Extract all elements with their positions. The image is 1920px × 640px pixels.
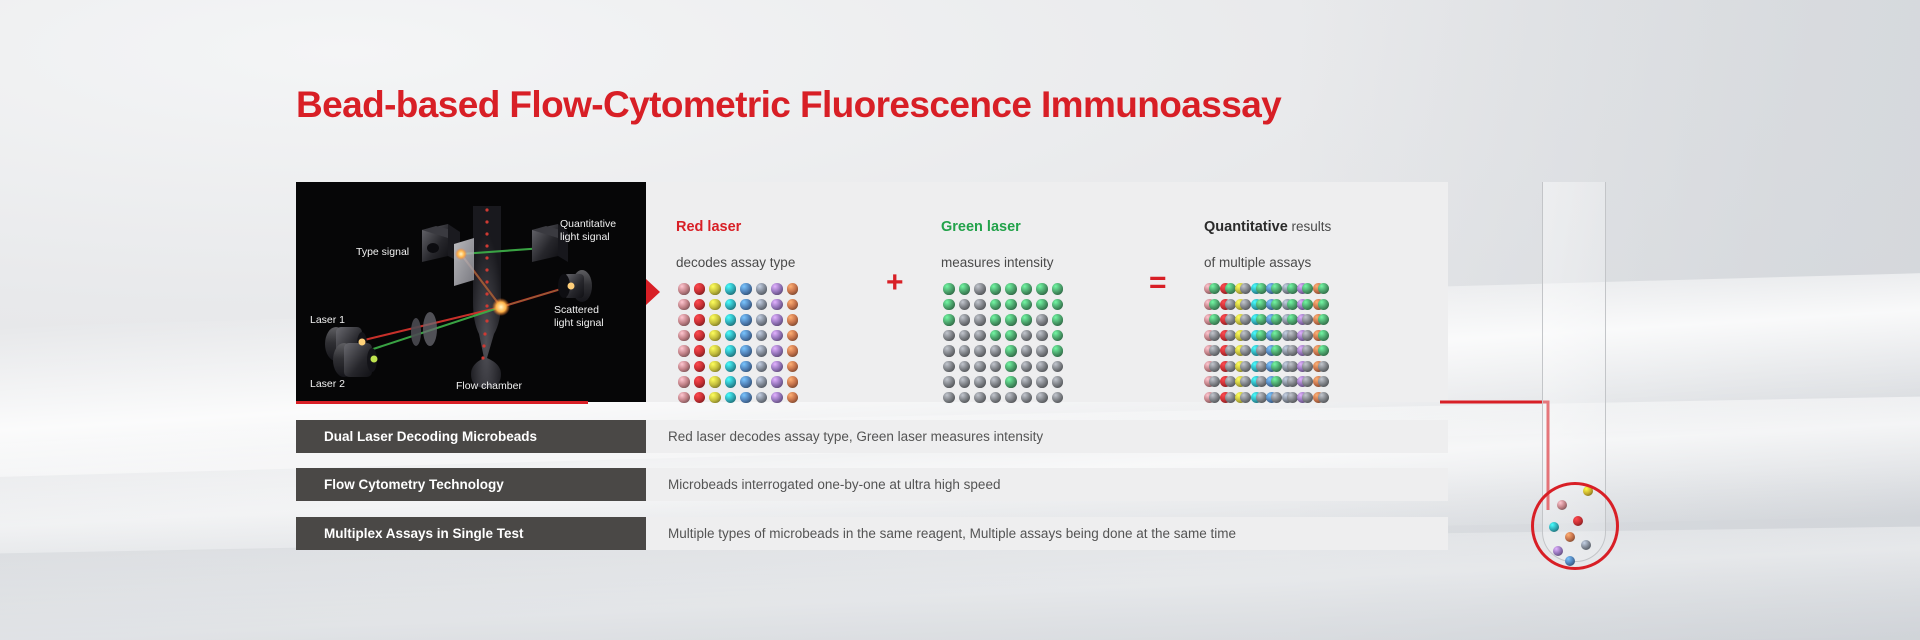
bead (754, 390, 770, 406)
bead (676, 281, 692, 297)
bead (738, 312, 754, 328)
bead-pair (1297, 312, 1313, 328)
label-type-signal: Type signal (356, 246, 409, 259)
bead (1050, 312, 1066, 328)
feature-tag: Multiplex Assays in Single Test (296, 517, 646, 550)
bead-pair (1235, 312, 1251, 328)
bead (785, 297, 801, 313)
bead (1050, 343, 1066, 359)
bead (1003, 281, 1019, 297)
feature-desc: Multiple types of microbeads in the same… (646, 517, 1448, 550)
bead (1050, 281, 1066, 297)
bead (1034, 343, 1050, 359)
bead-pair (1266, 374, 1282, 390)
bead (707, 328, 723, 344)
bead-pair (1297, 390, 1313, 406)
bead (676, 374, 692, 390)
bead (941, 312, 957, 328)
bead (957, 312, 973, 328)
page-title: Bead-based Flow-Cytometric Fluorescence … (296, 84, 1281, 126)
bead (785, 312, 801, 328)
bead-pair (1266, 297, 1282, 313)
bead (1050, 390, 1066, 406)
bead-pair (1313, 312, 1329, 328)
bead (692, 374, 708, 390)
bead (723, 281, 739, 297)
bead-pair (1204, 281, 1220, 297)
bead-pair (1220, 281, 1236, 297)
bead (754, 374, 770, 390)
bead (988, 328, 1004, 344)
bead-pair (1313, 343, 1329, 359)
bead (941, 374, 957, 390)
red-laser-sub: decodes assay type (676, 255, 795, 270)
green-laser-highlight: Green laser (941, 219, 1021, 235)
panel-baseline (296, 401, 588, 404)
label-quantitative-light-signal: Quantitative light signal (560, 218, 616, 243)
bead (754, 359, 770, 375)
bead (785, 343, 801, 359)
bead-pair (1266, 359, 1282, 375)
label-scattered-light-signal: Scattered light signal (554, 304, 604, 329)
bead (738, 328, 754, 344)
bead-pair (1282, 281, 1298, 297)
bead-pair (1204, 374, 1220, 390)
bead (1034, 297, 1050, 313)
bead-pair (1204, 312, 1220, 328)
bead-pair (1220, 343, 1236, 359)
label-laser-2: Laser 2 (310, 378, 345, 391)
bead (988, 390, 1004, 406)
bead-pair (1235, 328, 1251, 344)
bead (941, 359, 957, 375)
bead-pair (1235, 297, 1251, 313)
bead-pair (1266, 343, 1282, 359)
bead (738, 374, 754, 390)
results-sub: of multiple assays (1204, 255, 1311, 270)
bead (707, 374, 723, 390)
bead (972, 374, 988, 390)
bead (692, 328, 708, 344)
bead-pair (1220, 359, 1236, 375)
red-laser-block: Red laser decodes assay type (676, 200, 800, 405)
bead (1019, 297, 1035, 313)
bead (769, 359, 785, 375)
bead (957, 297, 973, 313)
bead (988, 281, 1004, 297)
feature-desc: Red laser decodes assay type, Green lase… (646, 420, 1448, 453)
bead (972, 343, 988, 359)
bead (1050, 374, 1066, 390)
bead (941, 281, 957, 297)
bead-pair (1204, 390, 1220, 406)
flow-arrow-icon (646, 279, 660, 305)
bead (738, 343, 754, 359)
bead (988, 343, 1004, 359)
bead (754, 343, 770, 359)
bead (1003, 328, 1019, 344)
bead (754, 281, 770, 297)
red-laser-highlight: Red laser (676, 219, 741, 235)
bead (1003, 390, 1019, 406)
bead-pair (1220, 374, 1236, 390)
bead (1019, 328, 1035, 344)
results-inline: results (1288, 219, 1332, 234)
bead (941, 297, 957, 313)
bead (1003, 374, 1019, 390)
bead (769, 281, 785, 297)
bead-pair (1282, 390, 1298, 406)
feature-tag: Flow Cytometry Technology (296, 468, 646, 501)
bead-pair (1266, 390, 1282, 406)
bead (769, 374, 785, 390)
bead (754, 297, 770, 313)
bead (723, 390, 739, 406)
bead-pair (1235, 281, 1251, 297)
bead-pair (1282, 312, 1298, 328)
feature-desc: Microbeads interrogated one-by-one at ul… (646, 468, 1448, 501)
bead (972, 359, 988, 375)
process-panel: Laser 1 Laser 2 Type signal Flow chamber… (296, 182, 1448, 402)
bead (769, 297, 785, 313)
bead (957, 328, 973, 344)
bead-pair (1251, 359, 1267, 375)
bead-pair (1235, 374, 1251, 390)
bead (988, 359, 1004, 375)
bead (723, 312, 739, 328)
bead (723, 297, 739, 313)
bead (769, 390, 785, 406)
bead-pair (1297, 281, 1313, 297)
bead-pair (1266, 281, 1282, 297)
bead (769, 343, 785, 359)
bead (707, 312, 723, 328)
bead-pair (1266, 312, 1282, 328)
bead (972, 297, 988, 313)
bead-pair (1235, 359, 1251, 375)
optics-diagram: Laser 1 Laser 2 Type signal Flow chamber… (296, 182, 646, 402)
label-flow-chamber: Flow chamber (456, 380, 522, 393)
bead (1019, 390, 1035, 406)
bead-pair (1266, 328, 1282, 344)
bead (738, 297, 754, 313)
bead (972, 281, 988, 297)
bead-pair (1220, 328, 1236, 344)
bead-pair (1313, 359, 1329, 375)
bead (957, 390, 973, 406)
bead (676, 328, 692, 344)
bead (957, 359, 973, 375)
bead (707, 297, 723, 313)
bead (723, 343, 739, 359)
operator-plus: + (886, 266, 904, 300)
bead-pair (1313, 390, 1329, 406)
bead (692, 297, 708, 313)
bead (738, 359, 754, 375)
bead (676, 312, 692, 328)
bead (707, 281, 723, 297)
bead (1003, 297, 1019, 313)
bead-pair (1220, 390, 1236, 406)
bead (1019, 359, 1035, 375)
bead (1034, 390, 1050, 406)
bead-pair (1297, 359, 1313, 375)
bead (676, 297, 692, 313)
bead (1034, 281, 1050, 297)
bead (1050, 297, 1066, 313)
bead (707, 359, 723, 375)
callout-circle (1531, 482, 1619, 570)
bead (785, 359, 801, 375)
bead-pair (1204, 328, 1220, 344)
operator-equals: = (1149, 266, 1167, 300)
bead-pair (1204, 297, 1220, 313)
bead (1019, 343, 1035, 359)
bead-pair (1251, 312, 1267, 328)
bead (785, 374, 801, 390)
bead (1034, 359, 1050, 375)
bead-pair (1297, 297, 1313, 313)
bead-pair (1297, 343, 1313, 359)
bead-pair (1282, 328, 1298, 344)
bead (754, 312, 770, 328)
bead-pair (1235, 343, 1251, 359)
bead-pair (1313, 374, 1329, 390)
bead (1003, 343, 1019, 359)
bead (957, 281, 973, 297)
bead (707, 343, 723, 359)
green-laser-sub: measures intensity (941, 255, 1054, 270)
red-laser-bead-grid (676, 281, 800, 405)
results-bead-grid (1204, 281, 1331, 405)
bead-pair (1282, 343, 1298, 359)
bead (692, 281, 708, 297)
bead-pair (1313, 281, 1329, 297)
bead-pair (1251, 390, 1267, 406)
bead (941, 390, 957, 406)
bead (769, 328, 785, 344)
green-laser-block: Green laser measures intensity (941, 200, 1065, 405)
bead-pair (1251, 374, 1267, 390)
bead (1003, 359, 1019, 375)
bead (723, 374, 739, 390)
bead-pair (1297, 374, 1313, 390)
bead-pair (1220, 312, 1236, 328)
bead (1050, 328, 1066, 344)
green-laser-heading: Green laser measures intensity (941, 200, 1065, 272)
results-block: Quantitative results of multiple assays (1204, 200, 1331, 405)
bead (941, 343, 957, 359)
results-highlight: Quantitative (1204, 219, 1288, 235)
bead-pair (1204, 343, 1220, 359)
optics-illustration (296, 182, 646, 402)
bead (692, 390, 708, 406)
bead (785, 281, 801, 297)
bead-pair (1313, 297, 1329, 313)
bead (738, 281, 754, 297)
bead-pair (1282, 359, 1298, 375)
bead (738, 390, 754, 406)
bead (785, 328, 801, 344)
bead (723, 328, 739, 344)
bead (941, 328, 957, 344)
bead-pair (1251, 297, 1267, 313)
bead-pair (1251, 328, 1267, 344)
red-laser-heading: Red laser decodes assay type (676, 200, 800, 272)
bead (1050, 359, 1066, 375)
bead (1034, 312, 1050, 328)
results-heading: Quantitative results of multiple assays (1204, 200, 1331, 272)
bead-pair (1297, 328, 1313, 344)
label-laser-1: Laser 1 (310, 314, 345, 327)
bead (692, 343, 708, 359)
bead (692, 359, 708, 375)
bead (972, 328, 988, 344)
bead-pair (1282, 374, 1298, 390)
bead (676, 343, 692, 359)
green-laser-bead-grid (941, 281, 1065, 405)
bead (769, 312, 785, 328)
bead-pair (1282, 297, 1298, 313)
bead-pair (1235, 390, 1251, 406)
bead (972, 390, 988, 406)
bead (707, 390, 723, 406)
bead (1019, 374, 1035, 390)
bead-pair (1220, 297, 1236, 313)
bead (1034, 328, 1050, 344)
bead (1019, 312, 1035, 328)
bead (988, 312, 1004, 328)
bead (1019, 281, 1035, 297)
bead (692, 312, 708, 328)
bead (723, 359, 739, 375)
bead-pair (1251, 343, 1267, 359)
bead-pair (1204, 359, 1220, 375)
bead (1003, 312, 1019, 328)
bead (676, 390, 692, 406)
bead (988, 374, 1004, 390)
bead (676, 359, 692, 375)
bead-pair (1313, 328, 1329, 344)
bead-pair (1251, 281, 1267, 297)
bead (988, 297, 1004, 313)
bead (957, 343, 973, 359)
bead (1034, 374, 1050, 390)
bead (785, 390, 801, 406)
bead (957, 374, 973, 390)
bead (754, 328, 770, 344)
bead (972, 312, 988, 328)
feature-tag: Dual Laser Decoding Microbeads (296, 420, 646, 453)
